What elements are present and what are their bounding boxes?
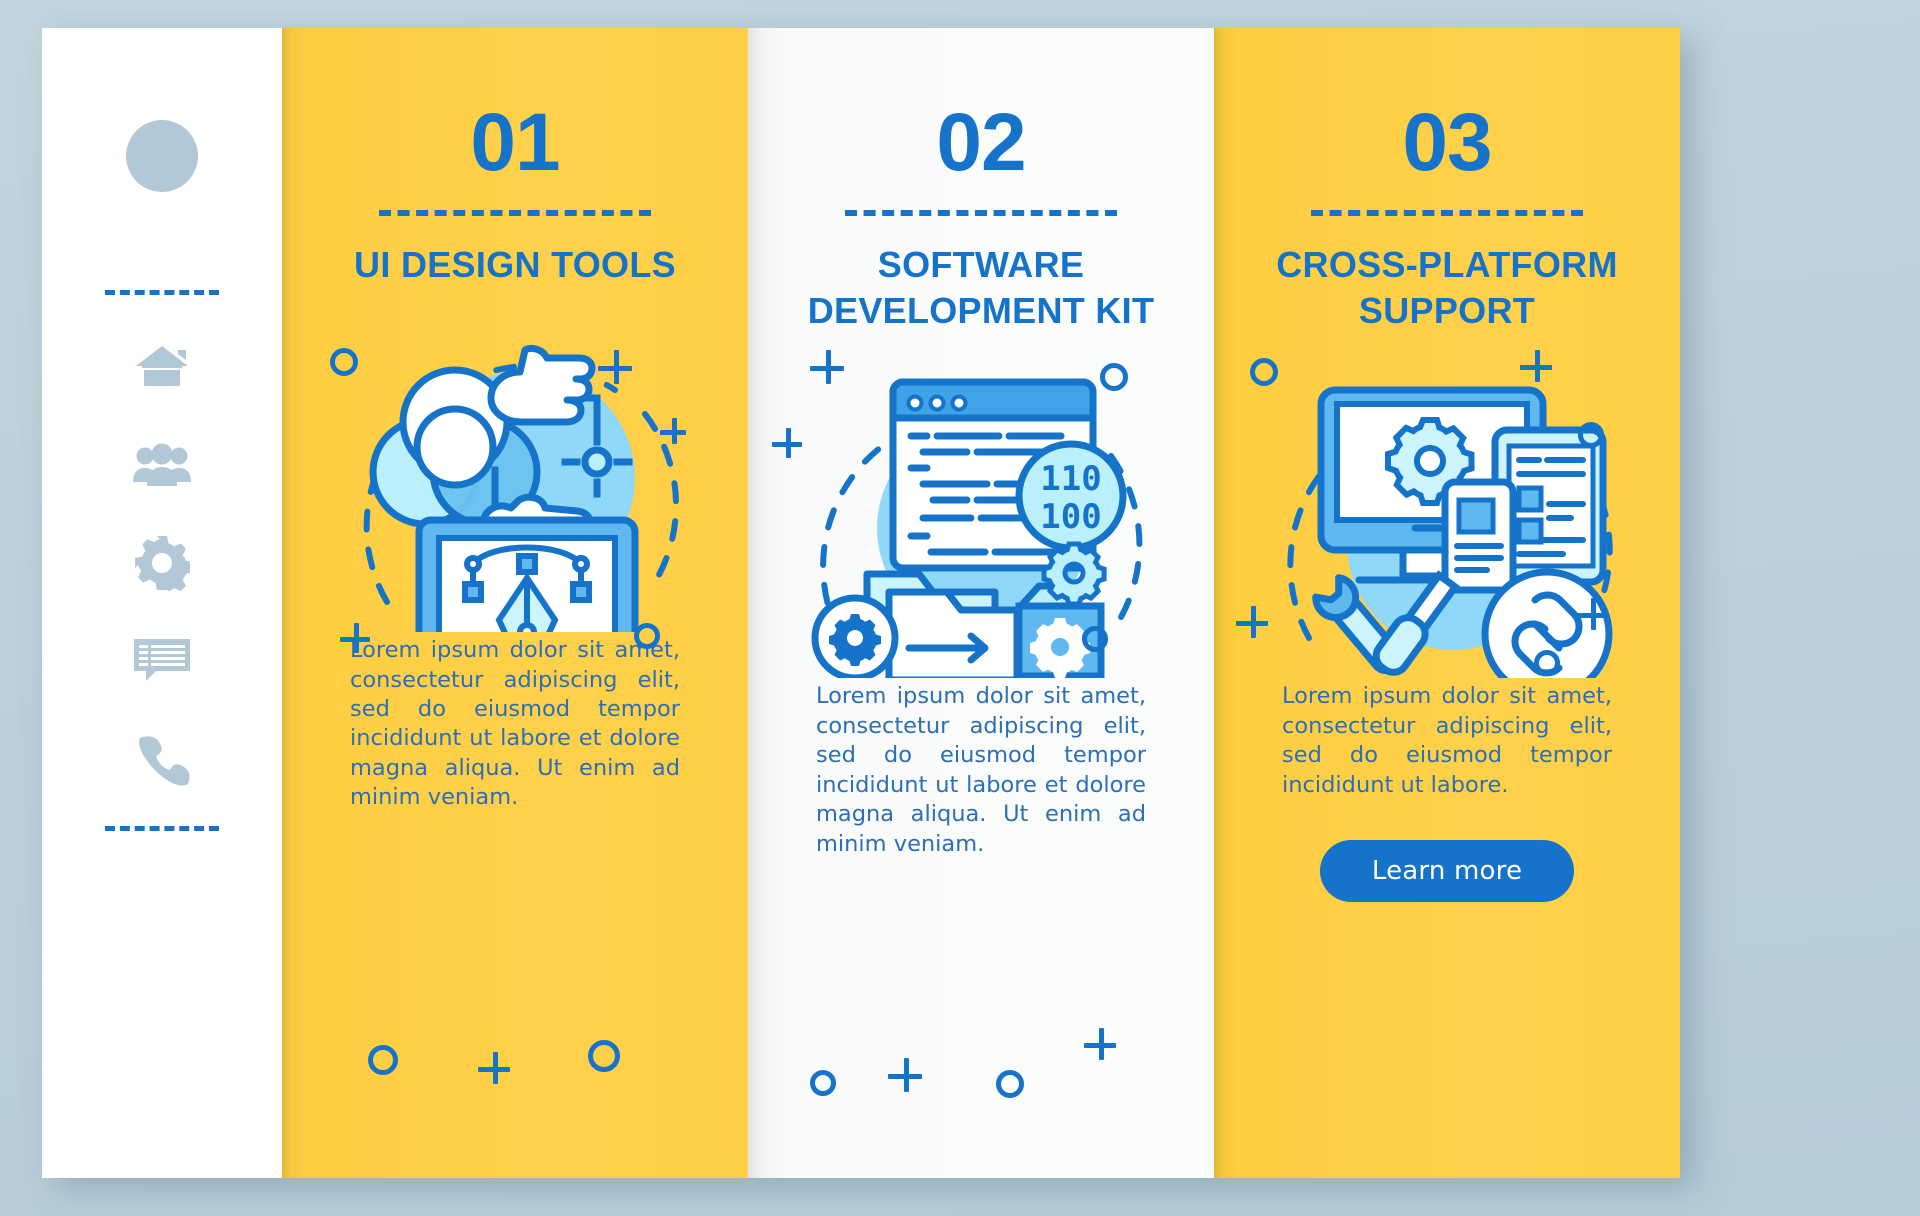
- sidebar-item-home[interactable]: [131, 338, 193, 400]
- card-number: 01: [282, 28, 748, 184]
- decor-plus: [1084, 1028, 1116, 1060]
- home-icon: [134, 342, 190, 397]
- decor-circle: [810, 1070, 836, 1096]
- ui-design-tools-illustration: [282, 302, 748, 632]
- decor-circle: [588, 1040, 620, 1072]
- onboarding-card-2: 02 SOFTWARE DEVELOPMENT KIT: [748, 28, 1214, 1178]
- card-title: SOFTWARE DEVELOPMENT KIT: [776, 242, 1186, 334]
- decor-plus: [478, 1052, 510, 1084]
- sidebar-item-call[interactable]: [131, 730, 193, 792]
- cross-platform-support-illustration: [1214, 348, 1680, 678]
- card-divider: [1311, 210, 1583, 216]
- onboarding-screens-container: 01 UI DESIGN TOOLS: [42, 28, 1680, 1178]
- card-divider: [379, 210, 651, 216]
- sidebar-item-users[interactable]: [131, 436, 193, 498]
- phone-icon: [134, 732, 190, 791]
- card-number: 02: [748, 28, 1214, 184]
- sidebar-item-messages[interactable]: [131, 632, 193, 694]
- gear-icon: [134, 535, 190, 596]
- card-body: Lorem ipsum dolor sit amet, consectetur …: [816, 682, 1146, 859]
- card-divider: [845, 210, 1117, 216]
- sidebar-divider-top: [105, 290, 219, 295]
- decor-circle: [996, 1070, 1024, 1098]
- avatar[interactable]: [126, 120, 198, 192]
- card-title: CROSS-PLATFORM SUPPORT: [1242, 242, 1652, 334]
- learn-more-button[interactable]: Learn more: [1320, 840, 1574, 902]
- binary-line-1: 110: [1040, 459, 1101, 499]
- card-body: Lorem ipsum dolor sit amet, consectetur …: [1282, 682, 1612, 800]
- binary-line-2: 100: [1040, 497, 1101, 537]
- card-title: UI DESIGN TOOLS: [310, 242, 720, 288]
- decor-plus: [888, 1058, 922, 1092]
- software-development-kit-illustration: 110 100: [748, 348, 1214, 678]
- card-body: Lorem ipsum dolor sit amet, consectetur …: [350, 636, 680, 813]
- chat-icon: [132, 637, 192, 690]
- sidebar-item-settings[interactable]: [131, 534, 193, 596]
- sidebar-nav: [42, 338, 282, 792]
- card-number: 03: [1214, 28, 1680, 184]
- users-icon: [132, 442, 192, 493]
- decor-circle: [368, 1045, 398, 1075]
- sidebar: [42, 28, 282, 1178]
- onboarding-card-3: 03 CROSS-PLATFORM SUPPORT: [1214, 28, 1680, 1178]
- onboarding-card-1: 01 UI DESIGN TOOLS: [282, 28, 748, 1178]
- sidebar-divider-bottom: [105, 826, 219, 831]
